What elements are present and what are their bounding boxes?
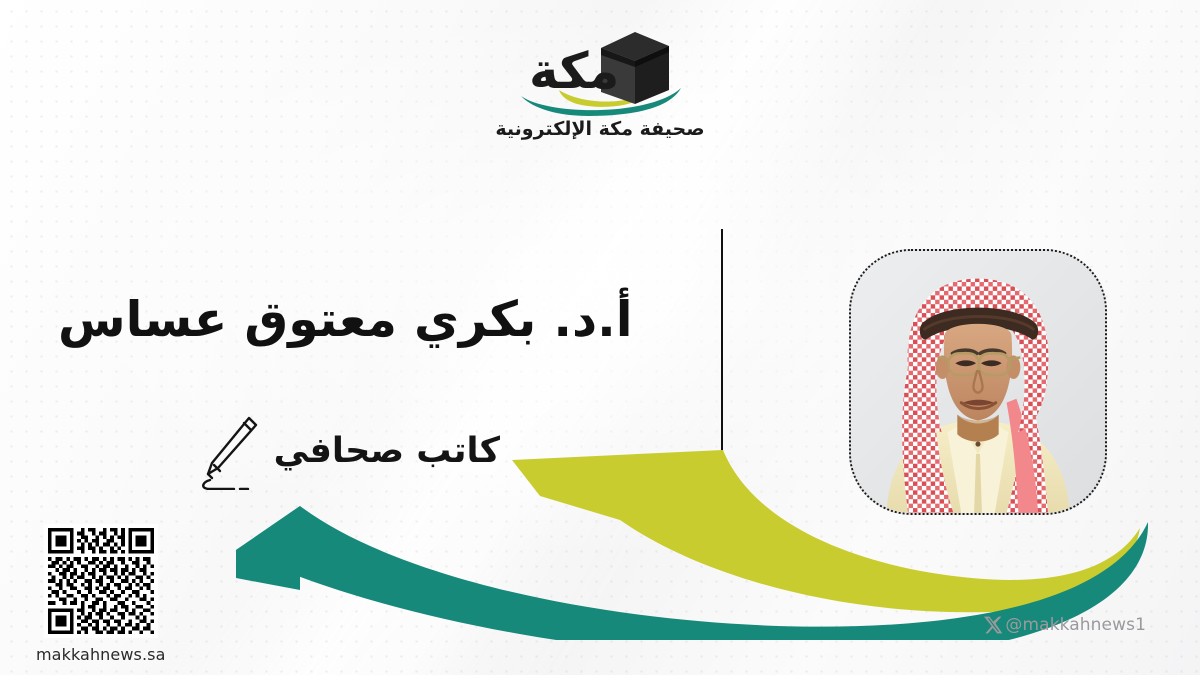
logo-mark: مكة [505, 24, 695, 116]
qr-block[interactable]: makkahnews.sa [36, 524, 166, 664]
x-logo-icon[interactable] [983, 615, 1003, 635]
qr-matrix [48, 528, 154, 634]
author-name: أ.د. بكري معتوق عساس [58, 292, 678, 348]
author-role: كاتب صحافي [274, 434, 500, 469]
author-card: مكة صحيفة مكة الإلكترونية أ.د. بكري معتو… [0, 0, 1200, 675]
logo-tagline: صحيفة مكة الإلكترونية [495, 118, 704, 140]
logo-wordmark: مكة [529, 46, 619, 96]
portrait-photo [851, 251, 1105, 513]
qr-code-icon[interactable] [44, 524, 158, 638]
site-logo: مكة صحيفة مكة الإلكترونية [0, 24, 1200, 140]
vertical-divider [721, 229, 723, 451]
author-portrait [849, 249, 1107, 515]
author-role-row: كاتب صحافي [194, 412, 500, 490]
website-label[interactable]: makkahnews.sa [36, 645, 166, 664]
social-handle-block[interactable]: @makkahnews1 [983, 615, 1146, 635]
social-handle-text[interactable]: @makkahnews1 [1005, 615, 1146, 635]
pen-icon [194, 412, 260, 490]
